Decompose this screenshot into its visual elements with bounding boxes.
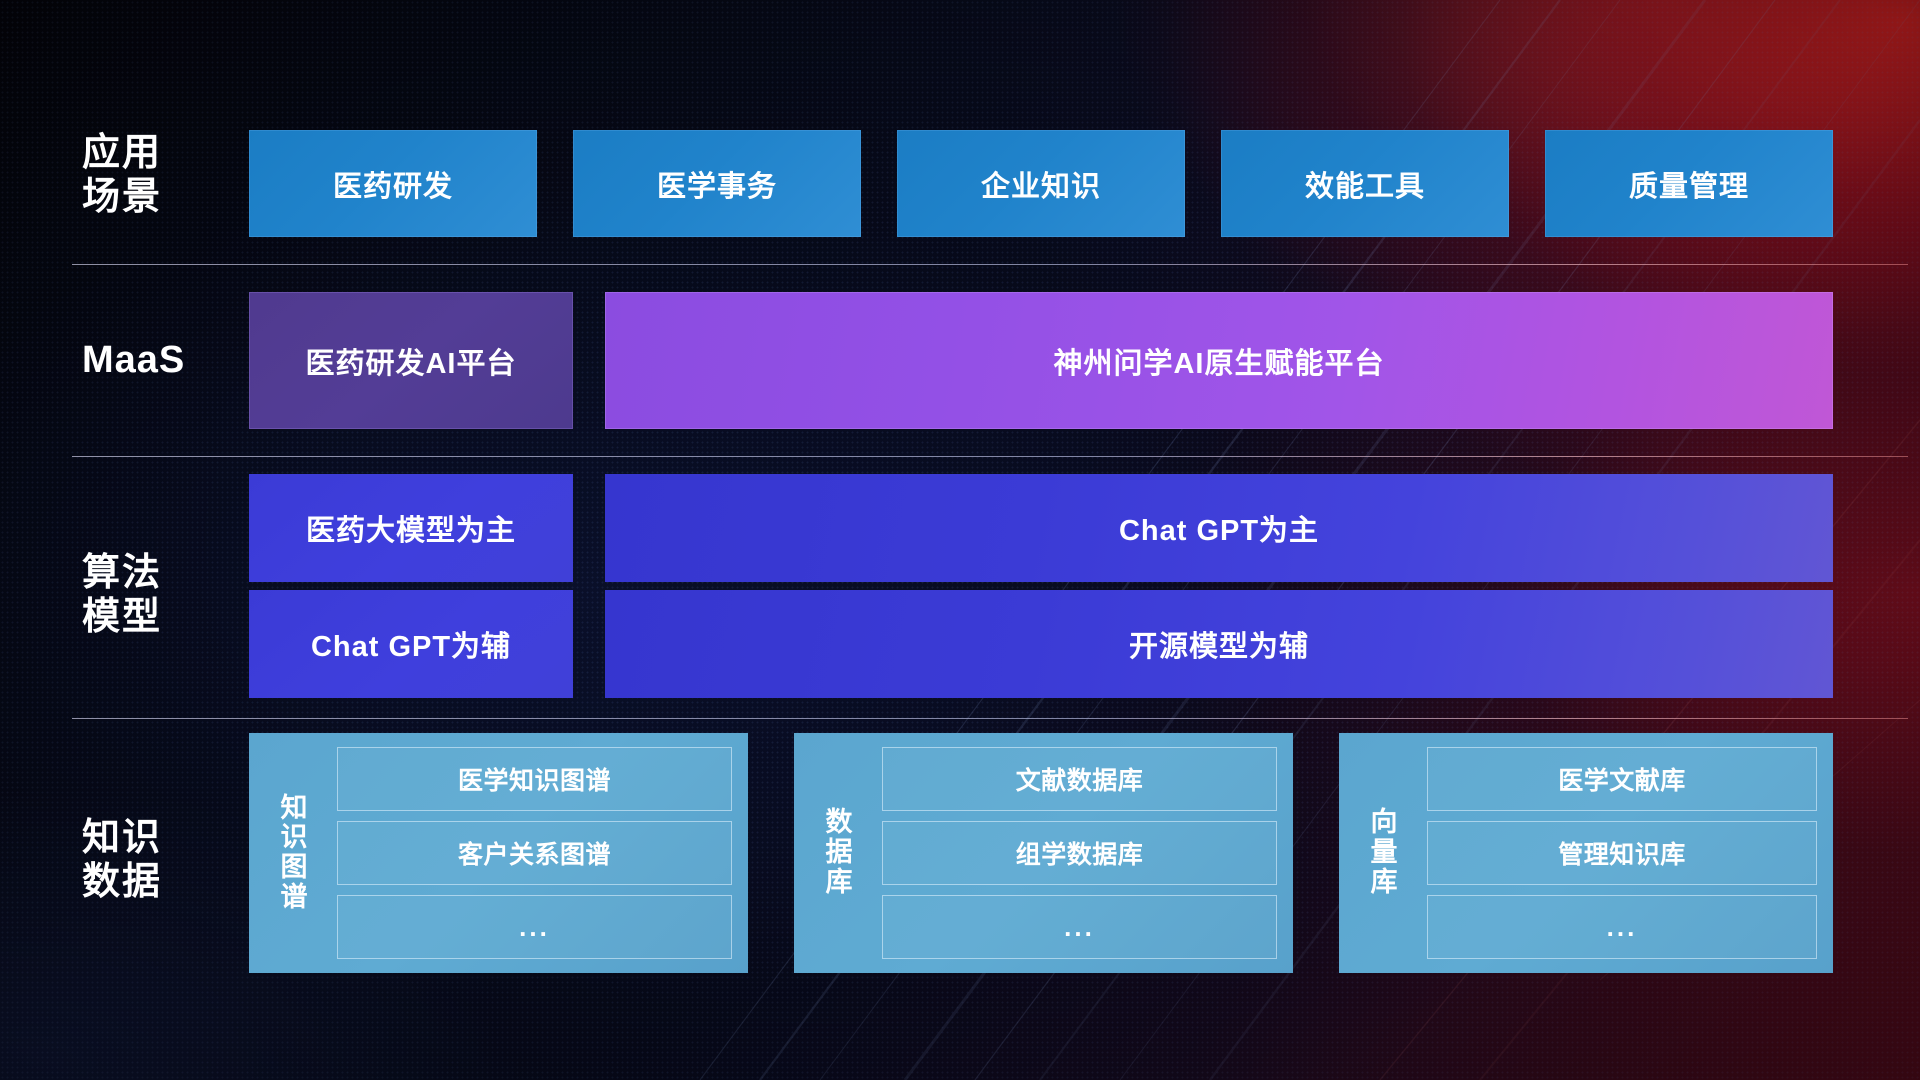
knowledge-panel-database[interactable]: 数 据 库 文献数据库 组学数据库 ... <box>794 733 1293 973</box>
knowledge-item-label: 医学文献库 <box>1558 761 1686 797</box>
knowledge-item[interactable]: 医学文献库 <box>1427 747 1817 811</box>
knowledge-panel-items: 文献数据库 组学数据库 ... <box>870 747 1277 959</box>
vlabel-char: 图 <box>281 853 308 883</box>
divider-after-application-scenarios <box>72 264 1908 265</box>
vlabel-char: 数 <box>826 808 853 838</box>
row-label-line: 数据 <box>82 860 222 904</box>
row-label-application-scenarios: 应用 场景 <box>82 120 222 230</box>
knowledge-item[interactable]: 客户关系图谱 <box>337 821 732 885</box>
vlabel-char: 知 <box>281 794 308 824</box>
row-label-line: 模型 <box>82 595 222 639</box>
knowledge-item[interactable]: 组学数据库 <box>882 821 1277 885</box>
knowledge-panel-vertical-label: 知 识 图 谱 <box>263 747 325 959</box>
scene-box-label: 医药研发 <box>333 163 453 205</box>
knowledge-item-more[interactable]: ... <box>1427 895 1817 959</box>
knowledge-item-label: ... <box>519 912 550 943</box>
knowledge-panel-items: 医学知识图谱 客户关系图谱 ... <box>325 747 732 959</box>
algo-box-chatgpt-secondary[interactable]: Chat GPT为辅 <box>249 590 573 698</box>
algo-box-opensource-secondary[interactable]: 开源模型为辅 <box>605 590 1833 698</box>
knowledge-item-label: 文献数据库 <box>1016 761 1144 797</box>
knowledge-item-label: ... <box>1607 912 1638 943</box>
scene-box-label: 医学事务 <box>657 163 777 205</box>
algo-box-label: 医药大模型为主 <box>306 507 516 549</box>
knowledge-item[interactable]: 医学知识图谱 <box>337 747 732 811</box>
knowledge-item[interactable]: 管理知识库 <box>1427 821 1817 885</box>
row-label-line: 算法 <box>82 551 222 595</box>
knowledge-item-label: ... <box>1064 912 1095 943</box>
algo-box-medicine-large-model-primary[interactable]: 医药大模型为主 <box>249 474 573 582</box>
row-label-line: 场景 <box>82 175 222 219</box>
algo-box-label: 开源模型为辅 <box>1129 623 1309 665</box>
vlabel-char: 谱 <box>281 883 308 913</box>
knowledge-panel-vertical-label: 向 量 库 <box>1353 747 1415 959</box>
algo-box-label: Chat GPT为辅 <box>311 623 511 665</box>
knowledge-item-label: 组学数据库 <box>1016 835 1144 871</box>
knowledge-item-more[interactable]: ... <box>882 895 1277 959</box>
maas-box-label: 医药研发AI平台 <box>305 340 516 382</box>
scene-box-medicine-rd[interactable]: 医药研发 <box>249 130 537 237</box>
maas-box-medicine-rd-ai-platform[interactable]: 医药研发AI平台 <box>249 292 573 429</box>
vlabel-char: 量 <box>1371 838 1398 868</box>
knowledge-item-label: 管理知识库 <box>1558 835 1686 871</box>
knowledge-panel-vertical-label: 数 据 库 <box>808 747 870 959</box>
maas-box-label: 神州问学AI原生赋能平台 <box>1053 340 1384 382</box>
vlabel-char: 库 <box>1371 868 1398 898</box>
knowledge-item-label: 医学知识图谱 <box>458 761 611 797</box>
row-label-algorithm-models: 算法 模型 <box>82 500 222 690</box>
row-label-line: 知识 <box>82 816 222 860</box>
vlabel-char: 库 <box>826 868 853 898</box>
knowledge-panel-knowledge-graph[interactable]: 知 识 图 谱 医学知识图谱 客户关系图谱 ... <box>249 733 748 973</box>
scene-box-enterprise-knowledge[interactable]: 企业知识 <box>897 130 1185 237</box>
knowledge-panel-items: 医学文献库 管理知识库 ... <box>1415 747 1817 959</box>
divider-after-maas <box>72 456 1908 457</box>
row-label-line: 应用 <box>82 131 222 175</box>
row-label-maas: MaaS <box>82 325 222 395</box>
scene-box-medical-affairs[interactable]: 医学事务 <box>573 130 861 237</box>
vlabel-char: 向 <box>1371 808 1398 838</box>
algo-box-label: Chat GPT为主 <box>1119 507 1319 549</box>
vlabel-char: 据 <box>826 838 853 868</box>
scene-box-label: 质量管理 <box>1629 163 1749 205</box>
knowledge-item-more[interactable]: ... <box>337 895 732 959</box>
divider-after-algorithm-models <box>72 718 1908 719</box>
scene-box-label: 企业知识 <box>981 163 1101 205</box>
algo-box-chatgpt-primary[interactable]: Chat GPT为主 <box>605 474 1833 582</box>
row-label-line: MaaS <box>82 338 222 382</box>
knowledge-panel-vector-store[interactable]: 向 量 库 医学文献库 管理知识库 ... <box>1339 733 1833 973</box>
knowledge-item-label: 客户关系图谱 <box>458 835 611 871</box>
scene-box-quality-management[interactable]: 质量管理 <box>1545 130 1833 237</box>
scene-box-label: 效能工具 <box>1305 163 1425 205</box>
scene-box-efficiency-tools[interactable]: 效能工具 <box>1221 130 1509 237</box>
maas-box-shenzhou-wenxue-platform[interactable]: 神州问学AI原生赋能平台 <box>605 292 1833 429</box>
knowledge-item[interactable]: 文献数据库 <box>882 747 1277 811</box>
vlabel-char: 识 <box>281 823 308 853</box>
row-label-knowledge-data: 知识 数据 <box>82 770 222 950</box>
